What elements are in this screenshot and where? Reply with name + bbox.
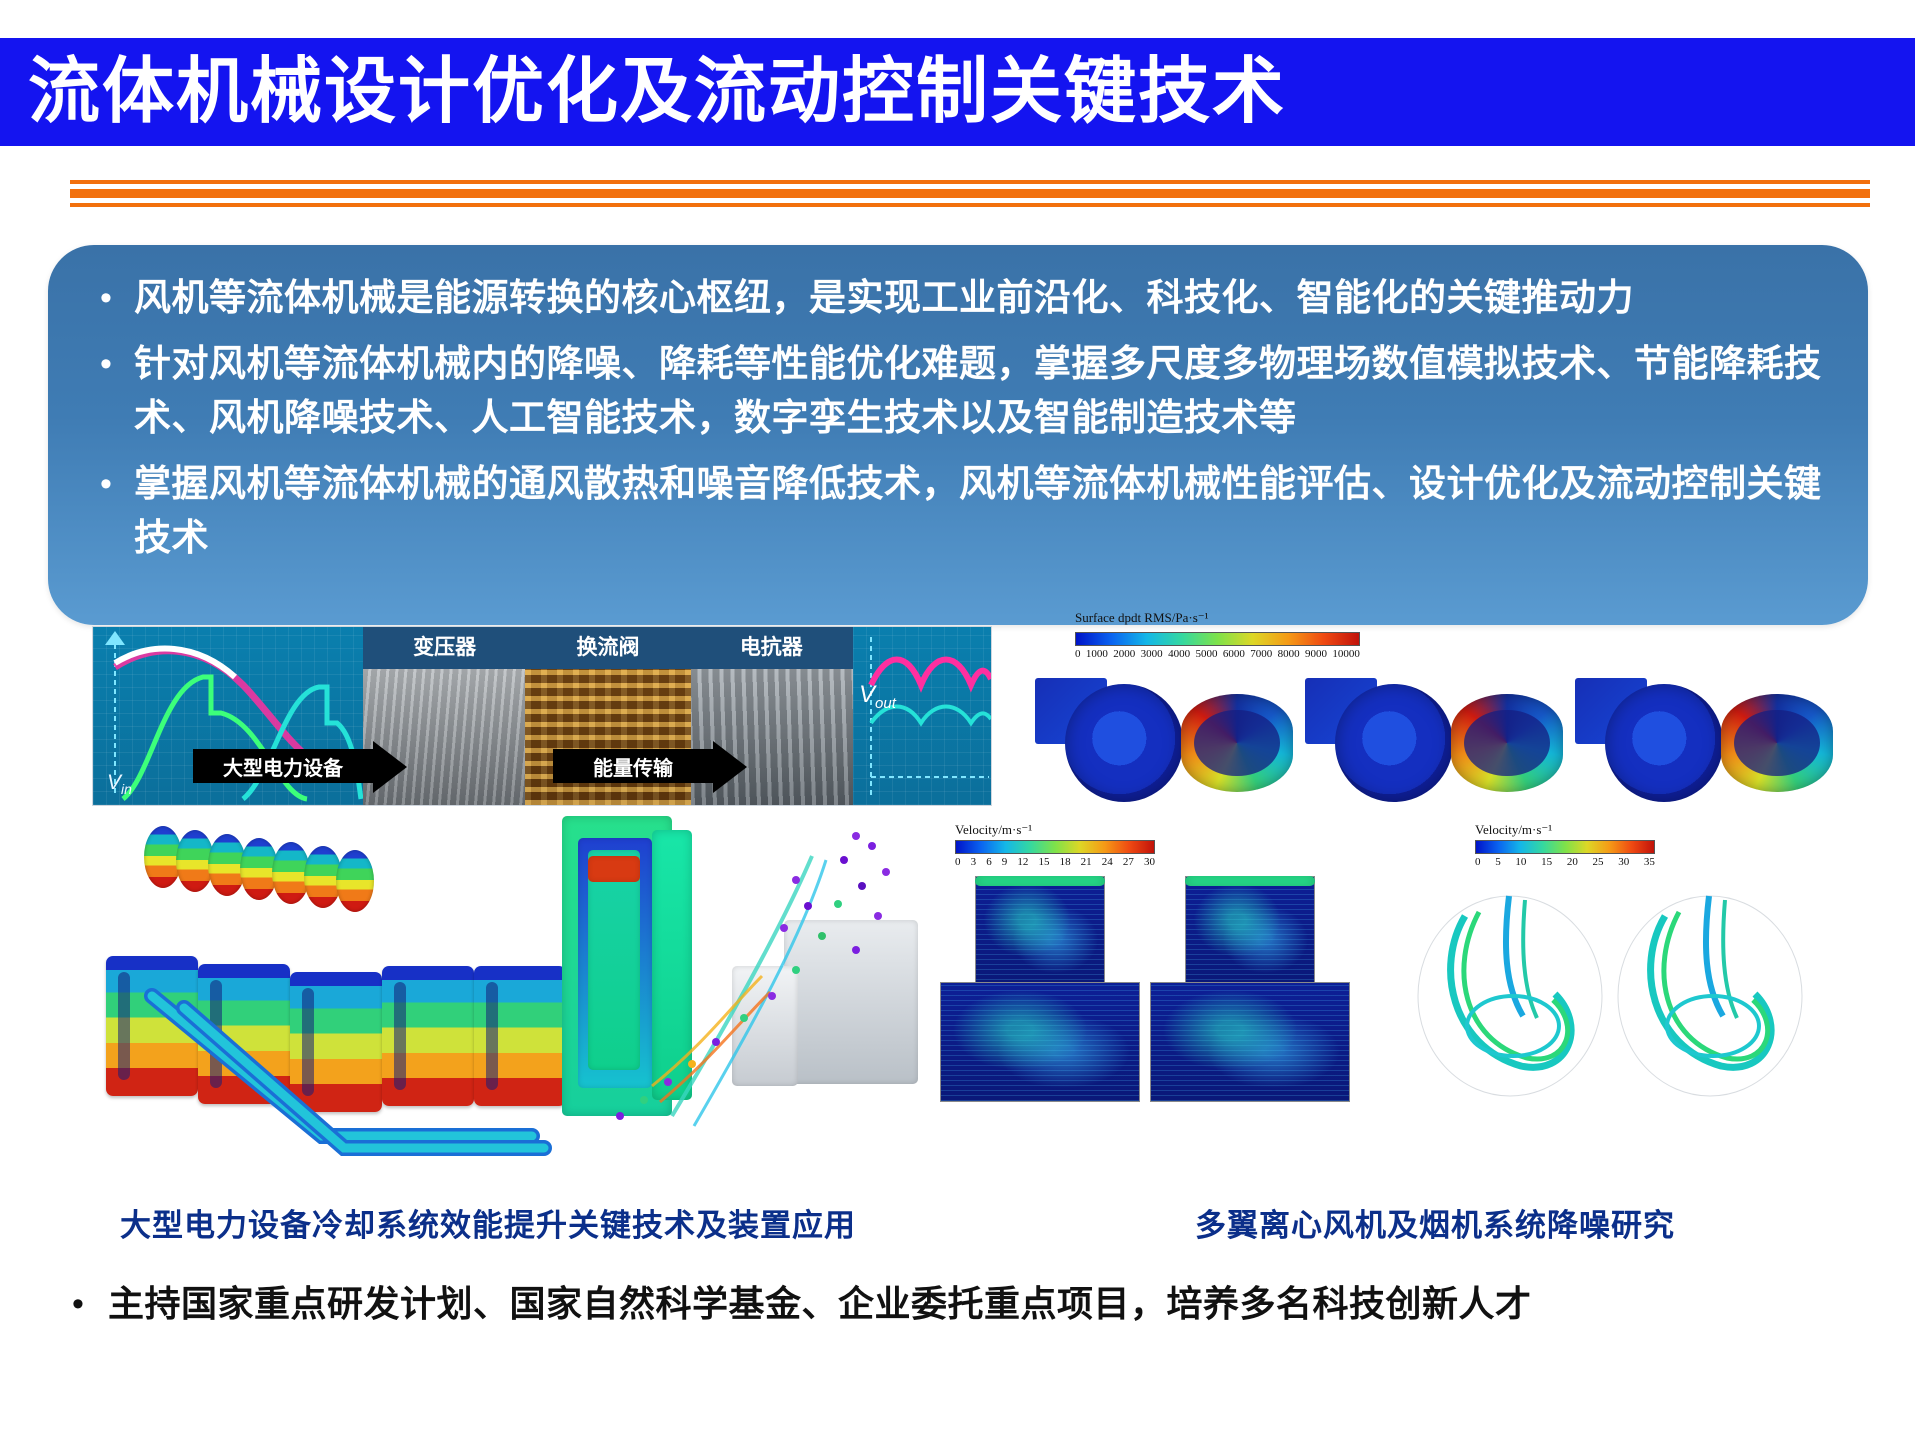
colorbar-title: Surface dpdt RMS/Pa·s⁻¹	[1075, 610, 1209, 626]
bottom-bullet: • 主持国家重点研发计划、国家自然科学基金、企业委托重点项目，培养多名科技创新人…	[48, 1278, 1868, 1330]
label-energy-transfer: 能量传输	[553, 749, 713, 783]
colorbar-gradient	[1075, 632, 1360, 646]
figure-right-fan-noise: Surface dpdt RMS/Pa·s⁻¹ 0 1000 2000 3000…	[1035, 626, 1870, 1186]
bullet-text: 掌握风机等流体机械的通风散热和噪音降低技术，风机等流体机械性能评估、设计优化及流…	[134, 457, 1822, 565]
caption-left: 大型电力设备冷却系统效能提升关键技术及装置应用	[120, 1200, 856, 1245]
flow-arrow-icon	[373, 741, 407, 793]
bullet-item: • 掌握风机等流体机械的通风散热和噪音降低技术，风机等流体机械性能评估、设计优化…	[78, 457, 1822, 565]
bullet-item: • 风机等流体机械是能源转换的核心枢纽，是实现工业前沿化、科技化、智能化的关键推…	[78, 271, 1822, 325]
slide-root: 流体机械设计优化及流动控制关键技术 • 风机等流体机械是能源转换的核心枢纽，是实…	[0, 0, 1920, 1440]
colorbar-ticks: 0 1000 2000 3000 4000 5000 6000 7000 800…	[1075, 648, 1360, 660]
figure-left-power-equipment: Vin 变压器 换流阀 电抗器 大型电力设备 能量传输	[92, 626, 992, 1186]
colorbar-gradient	[1475, 840, 1655, 854]
colorbar-ticks: 0 3 6 9 12 15 18 21 24 27 30	[955, 856, 1155, 868]
bottom-bullet-text: 主持国家重点研发计划、国家自然科学基金、企业委托重点项目，培养多名科技创新人才	[108, 1278, 1532, 1330]
bullet-marker: •	[78, 337, 134, 391]
orange-divider	[70, 180, 1870, 207]
output-waveform-plot: Vout	[853, 627, 992, 805]
colorbar-ticks: 0 5 10 15 20 25 30 35	[1475, 856, 1655, 868]
power-equipment-strip: Vin 变压器 换流阀 电抗器 大型电力设备 能量传输	[92, 626, 992, 806]
colorbar-title: Velocity/m·s⁻¹	[955, 822, 1032, 838]
label-large-power-equipment: 大型电力设备	[193, 749, 373, 783]
divider-line-middle	[70, 189, 1870, 198]
colorbar-gradient	[955, 840, 1155, 854]
bullet-panel: • 风机等流体机械是能源转换的核心枢纽，是实现工业前沿化、科技化、智能化的关键推…	[48, 245, 1868, 625]
bullet-item: • 针对风机等流体机械内的降噪、降耗等性能优化难题，掌握多尺度多物理场数值模拟技…	[78, 337, 1822, 445]
bottom-bullet-marker: •	[48, 1278, 108, 1330]
vout-label: Vout	[859, 681, 896, 712]
cooling-system-cfd-figures	[92, 816, 992, 1186]
header-transformer: 变压器	[363, 627, 526, 669]
bullet-text: 风机等流体机械是能源转换的核心枢纽，是实现工业前沿化、科技化、智能化的关键推动力	[134, 271, 1822, 325]
header-reactor: 电抗器	[690, 627, 853, 669]
bullet-marker: •	[78, 457, 134, 511]
flow-arrow-icon	[713, 741, 747, 793]
bullet-text: 针对风机等流体机械内的降噪、降耗等性能优化难题，掌握多尺度多物理场数值模拟技术、…	[134, 337, 1822, 445]
colorbar-title: Velocity/m·s⁻¹	[1475, 822, 1552, 838]
equipment-header-bar: 变压器 换流阀 电抗器	[363, 627, 853, 669]
bullet-marker: •	[78, 271, 134, 325]
caption-right: 多翼离心风机及烟机系统降噪研究	[1195, 1200, 1675, 1245]
page-title: 流体机械设计优化及流动控制关键技术	[0, 56, 1286, 128]
title-banner: 流体机械设计优化及流动控制关键技术	[0, 38, 1915, 146]
vin-label: Vin	[107, 771, 132, 797]
header-converter-valve: 换流阀	[526, 627, 689, 669]
divider-line-bottom	[70, 203, 1870, 207]
